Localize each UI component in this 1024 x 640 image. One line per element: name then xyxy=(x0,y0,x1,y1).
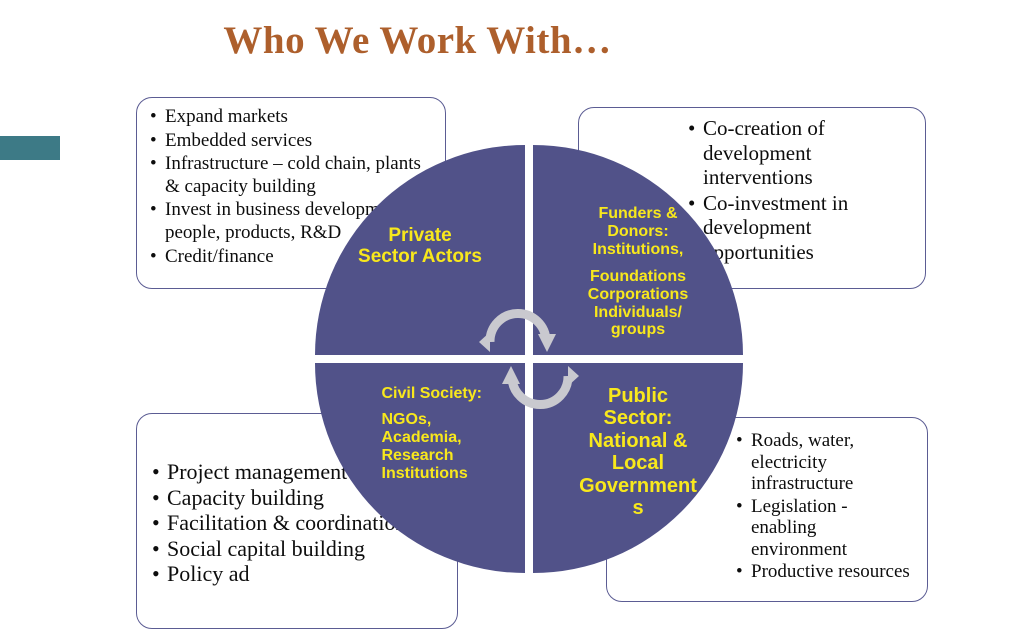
wheel-label-line: Funders & xyxy=(598,205,677,222)
wheel-quadrant-label: Private Sector Actors xyxy=(335,145,505,268)
wheel-label-line: Foundations xyxy=(590,268,686,285)
wheel-label-line: National & xyxy=(589,430,688,452)
wheel-label-line: Sector Actors xyxy=(358,246,482,267)
list-item: Roads, water, electricity infrastructure xyxy=(751,430,917,495)
wheel-label-line: groups xyxy=(611,321,665,338)
left-accent-bar xyxy=(0,136,60,160)
wheel-label-line: Private xyxy=(388,225,451,246)
public-sector-bullet-list: Roads, water, electricity infrastructure… xyxy=(729,430,917,583)
slide-canvas: Who We Work With… Expand markets Embedde… xyxy=(0,0,1024,640)
wheel-label-line: s xyxy=(632,497,643,519)
wheel-label-line: Institutions xyxy=(382,465,468,482)
list-item: Expand markets xyxy=(165,106,435,129)
label-spacer xyxy=(382,403,517,411)
wheel-quadrant-public-sector: Public Sector: National & Local Governme… xyxy=(533,363,743,573)
wheel-label-line: Civil Society: xyxy=(382,385,482,402)
wheel-label-line: Corporations xyxy=(588,286,688,303)
wheel-label-line: Academia, xyxy=(382,429,462,446)
wheel-label-line: Individuals/ xyxy=(594,304,682,321)
wheel-label-line: NGOs, xyxy=(382,411,432,428)
wheel-label-line: Government xyxy=(579,475,697,497)
wheel-label-line: Public xyxy=(608,385,668,407)
wheel-label-line: Donors: xyxy=(607,223,668,240)
wheel-quadrant-label: Public Sector: National & Local Governme… xyxy=(573,363,703,519)
wheel-label-line: Research xyxy=(382,447,454,464)
wheel-quadrant-private-sector-actors: Private Sector Actors xyxy=(315,145,525,355)
wheel-quadrant-label: Civil Society: NGOs, Academia, Research … xyxy=(382,363,517,483)
wheel-label-line: Local xyxy=(612,452,664,474)
list-item: Legislation - enabling environment xyxy=(751,496,917,561)
page-title: Who We Work With… xyxy=(0,18,835,63)
wheel-label-line: Institutions, xyxy=(593,241,684,258)
label-spacer xyxy=(572,259,704,268)
wheel-quadrant-label: Funders & Donors: Institutions, Foundati… xyxy=(572,145,704,339)
wheel-quadrant-civil-society: Civil Society: NGOs, Academia, Research … xyxy=(315,363,525,573)
stakeholder-wheel: Private Sector Actors Funders & Donors: … xyxy=(315,145,743,573)
list-item: Productive resources xyxy=(751,561,917,583)
wheel-label-line: Sector: xyxy=(604,407,673,429)
wheel-quadrant-funders-and-donors: Funders & Donors: Institutions, Foundati… xyxy=(533,145,743,355)
